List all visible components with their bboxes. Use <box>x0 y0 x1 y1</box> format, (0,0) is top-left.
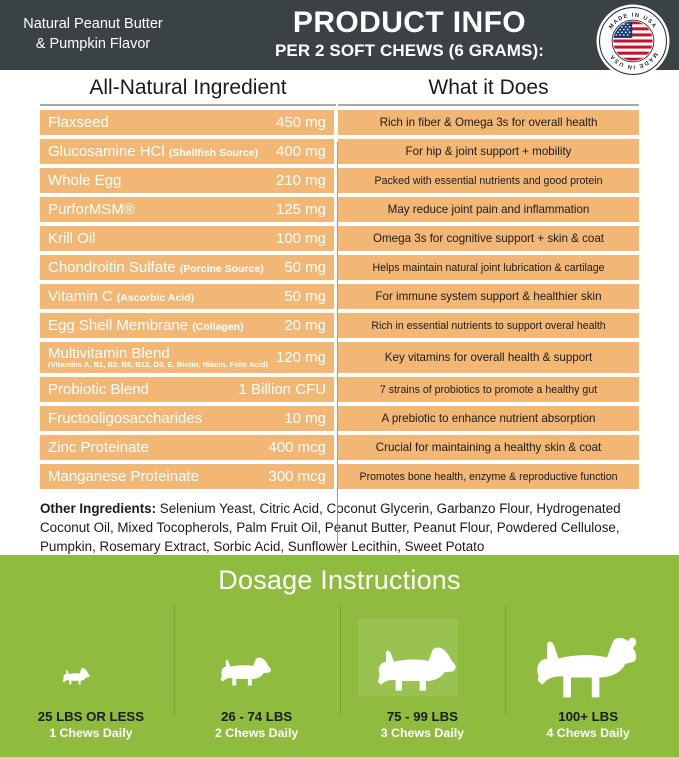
ingredient-source-note: (Ascorbic Acid) <box>117 292 194 304</box>
ingredient-amount: 1 Billion CFU <box>233 381 327 398</box>
ingredient-amount: 400 mcg <box>262 439 326 456</box>
ingredient-cell: Chondroitin Sulfate (Porcine Source)50 m… <box>40 255 334 280</box>
ingredient-cell: Glucosamine HCl (Shellfish Source)400 mg <box>40 139 334 164</box>
table-row: Whole Egg210 mgPacked with essential nut… <box>40 168 639 193</box>
column-header-what-it-does: What it Does <box>338 76 639 106</box>
product-header: Natural Peanut Butter & Pumpkin Flavor P… <box>0 0 679 70</box>
medium-dog-icon <box>214 653 300 705</box>
table-row: Fructooligosaccharides10 mgA prebiotic t… <box>40 406 639 431</box>
table-row: Probiotic Blend1 Billion CFU7 strains of… <box>40 377 639 402</box>
other-ingredients: Other Ingredients: Selenium Yeast, Citri… <box>0 489 679 556</box>
dosage-weight-range: 26 - 74 LBS <box>221 709 292 724</box>
page-title: PRODUCT INFO <box>180 8 639 38</box>
column-header-ingredient: All-Natural Ingredient <box>40 76 336 106</box>
ingredient-name: Manganese Proteinate <box>48 468 262 485</box>
dosage-title: Dosage Instructions <box>0 555 679 596</box>
ingredient-benefit: 7 strains of probiotics to promote a hea… <box>338 377 639 402</box>
flavor-line-1: Natural Peanut Butter <box>6 15 180 35</box>
ingredient-name: Whole Egg <box>48 172 270 189</box>
ingredient-name-main: Whole Egg <box>48 172 121 189</box>
ingredient-name: Vitamin C (Ascorbic Acid) <box>48 288 278 305</box>
ingredient-name: Chondroitin Sulfate (Porcine Source) <box>48 259 278 276</box>
ingredient-name-main: Egg Shell Membrane <box>48 317 188 334</box>
ingredient-name: Fructooligosaccharides <box>48 410 278 427</box>
ingredient-name: PurforMSM® <box>48 201 270 218</box>
ingredient-name: Glucosamine HCl (Shellfish Source) <box>48 143 270 160</box>
other-ingredients-label: Other Ingredients: <box>40 501 156 516</box>
ingredient-name-main: Zinc Proteinate <box>48 439 149 456</box>
table-row: Chondroitin Sulfate (Porcine Source)50 m… <box>40 255 639 280</box>
ingredient-cell: Manganese Proteinate300 mcg <box>40 464 334 489</box>
dosage-weight-range: 100+ LBS <box>558 709 618 724</box>
ingredient-name-main: Vitamin C <box>48 288 113 305</box>
ingredient-name: Probiotic Blend <box>48 381 233 398</box>
ingredient-amount: 10 mg <box>278 410 326 427</box>
ingredient-amount: 50 mg <box>278 288 326 305</box>
ingredient-name: Egg Shell Membrane (Collagen) <box>48 317 278 334</box>
ingredient-cell: Multivitamin Blend(Vitamins A, B1, B2, B… <box>40 342 334 373</box>
table-row: Glucosamine HCl (Shellfish Source)400 mg… <box>40 139 639 164</box>
ingredient-name-main: PurforMSM® <box>48 201 135 218</box>
ingredient-cell: Egg Shell Membrane (Collagen)20 mg <box>40 313 334 338</box>
flavor-text: Natural Peanut Butter & Pumpkin Flavor <box>0 15 180 54</box>
dosage-column: 75 - 99 LBS3 Chews Daily <box>340 596 506 748</box>
ingredient-name: Krill Oil <box>48 230 270 247</box>
ingredient-name-main: Probiotic Blend <box>48 381 149 398</box>
ingredient-benefit: For immune system support & healthier sk… <box>338 284 639 309</box>
ingredient-benefit: A prebiotic to enhance nutrient absorpti… <box>338 406 639 431</box>
flavor-line-2: & Pumpkin Flavor <box>6 35 180 55</box>
ingredient-name-main: Chondroitin Sulfate <box>48 259 176 276</box>
ingredient-cell: Probiotic Blend1 Billion CFU <box>40 377 334 402</box>
ingredient-amount: 20 mg <box>278 317 326 334</box>
ingredient-benefit: Omega 3s for cognitive support + skin & … <box>338 226 639 251</box>
ingredient-amount: 120 mg <box>270 349 326 366</box>
ingredient-benefit: Packed with essential nutrients and good… <box>338 168 639 193</box>
ingredient-cell: Zinc Proteinate400 mcg <box>40 435 334 460</box>
dosage-column: 26 - 74 LBS2 Chews Daily <box>174 596 340 748</box>
ingredient-name-main: Manganese Proteinate <box>48 468 199 485</box>
ingredient-name-main: Krill Oil <box>48 230 96 247</box>
ingredient-name-main: Fructooligosaccharides <box>48 410 202 427</box>
ingredient-amount: 400 mg <box>270 143 326 160</box>
made-in-usa-seal-icon: MADE IN USA MADE IN USA <box>595 3 671 79</box>
ingredient-benefit: Rich in essential nutrients to support o… <box>338 313 639 338</box>
column-divider <box>337 142 338 551</box>
dosage-weight-range: 25 LBS OR LESS <box>38 709 144 724</box>
dosage-weight-range: 75 - 99 LBS <box>387 709 458 724</box>
table-row: Multivitamin Blend(Vitamins A, B1, B2, B… <box>40 342 639 373</box>
table-header-row: All-Natural Ingredient What it Does <box>40 70 639 106</box>
dosage-chew-count: 3 Chews Daily <box>381 726 464 740</box>
ingredient-benefit: Key vitamins for overall health & suppor… <box>338 342 639 373</box>
table-row: Flaxseed450 mgRich in fiber & Omega 3s f… <box>40 110 639 135</box>
ingredient-amount: 210 mg <box>270 172 326 189</box>
table-row: Egg Shell Membrane (Collagen)20 mgRich i… <box>40 313 639 338</box>
dosage-column: 25 LBS OR LESS1 Chews Daily <box>8 596 174 748</box>
dosage-chew-count: 4 Chews Daily <box>546 726 629 740</box>
ingredient-cell: Krill Oil100 mg <box>40 226 334 251</box>
ingredient-name: Flaxseed <box>48 114 270 131</box>
ingredient-amount: 125 mg <box>270 201 326 218</box>
ingredient-name-main: Flaxseed <box>48 114 109 131</box>
ingredient-amount: 50 mg <box>278 259 326 276</box>
xlarge-dog-icon <box>529 629 647 705</box>
table-row: Manganese Proteinate300 mcgPromotes bone… <box>40 464 639 489</box>
dosage-section: Dosage Instructions 25 LBS OR LESS1 Chew… <box>0 555 679 757</box>
dosage-column: 100+ LBS4 Chews Daily <box>505 596 671 748</box>
ingredient-amount: 300 mcg <box>262 468 326 485</box>
table-row: Vitamin C (Ascorbic Acid)50 mgFor immune… <box>40 284 639 309</box>
small-dog-icon <box>60 663 122 705</box>
table-row: Krill Oil100 mgOmega 3s for cognitive su… <box>40 226 639 251</box>
dosage-chew-count: 2 Chews Daily <box>215 726 298 740</box>
ingredient-detail-note: (Vitamins A, B1, B2, B6, B12, D3, E, Bio… <box>48 361 270 369</box>
ingredient-benefit: For hip & joint support + mobility <box>338 139 639 164</box>
dosage-chew-count: 1 Chews Daily <box>49 726 132 740</box>
ingredient-cell: Flaxseed450 mg <box>40 110 334 135</box>
ingredient-amount: 450 mg <box>270 114 326 131</box>
ingredient-cell: Whole Egg210 mg <box>40 168 334 193</box>
ingredient-amount: 100 mg <box>270 230 326 247</box>
large-dog-icon <box>369 641 475 705</box>
ingredient-name-main: Glucosamine HCl <box>48 143 165 160</box>
ingredient-name: Zinc Proteinate <box>48 439 262 456</box>
ingredient-table: All-Natural Ingredient What it Does Flax… <box>0 70 679 489</box>
ingredient-name: Multivitamin Blend(Vitamins A, B1, B2, B… <box>48 345 270 370</box>
table-row: PurforMSM®125 mgMay reduce joint pain an… <box>40 197 639 222</box>
ingredient-benefit: Promotes bone health, enzyme & reproduct… <box>338 464 639 489</box>
ingredient-benefit: Rich in fiber & Omega 3s for overall hea… <box>338 110 639 135</box>
ingredient-cell: Fructooligosaccharides10 mg <box>40 406 334 431</box>
dosage-columns: 25 LBS OR LESS1 Chews Daily26 - 74 LBS2 … <box>0 596 679 748</box>
table-row: Zinc Proteinate400 mcgCrucial for mainta… <box>40 435 639 460</box>
serving-size-subtitle: PER 2 SOFT CHEWS (6 GRAMS): <box>180 40 639 61</box>
ingredient-source-note: (Collagen) <box>192 321 243 333</box>
ingredient-cell: PurforMSM®125 mg <box>40 197 334 222</box>
ingredient-source-note: (Porcine Source) <box>180 263 264 275</box>
ingredient-source-note: (Shellfish Source) <box>169 147 258 159</box>
ingredient-benefit: May reduce joint pain and inflammation <box>338 197 639 222</box>
ingredient-benefit: Crucial for maintaining a healthy skin &… <box>338 435 639 460</box>
table-body: Flaxseed450 mgRich in fiber & Omega 3s f… <box>40 110 639 489</box>
ingredient-cell: Vitamin C (Ascorbic Acid)50 mg <box>40 284 334 309</box>
ingredient-benefit: Helps maintain natural joint lubrication… <box>338 255 639 280</box>
